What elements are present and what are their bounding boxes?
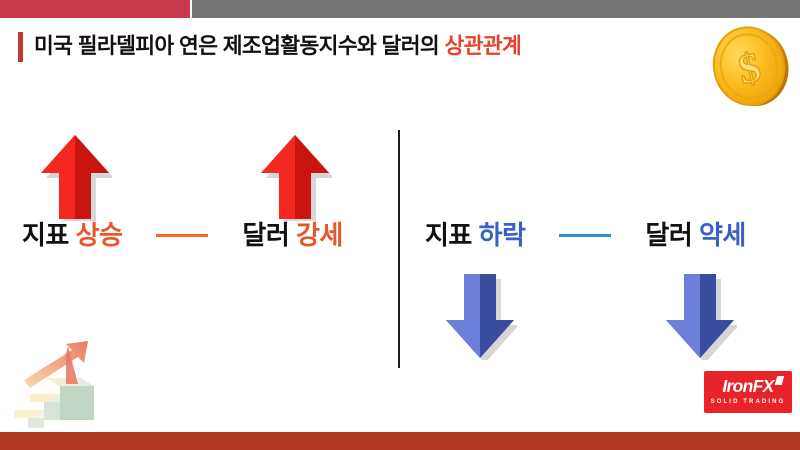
- right-cause-plain: 지표: [425, 220, 479, 250]
- top-bar-red-segment: [0, 0, 190, 18]
- slide-canvas: 미국 필라델피아 연은 제조업활동지수와 달러의 상관관계: [0, 0, 800, 450]
- page-title: 미국 필라델피아 연은 제조업활동지수와 달러의 상관관계: [18, 30, 521, 64]
- red-up-arrow-icon-cause: [38, 133, 112, 221]
- title-plain-part: 미국 필라델피아 연은 제조업활동지수와 달러의: [34, 34, 444, 58]
- right-statement-row: 지표 하락 달러 약세: [425, 213, 746, 257]
- blue-down-arrow-icon-cause: [443, 272, 517, 360]
- left-effect-label: 달러 강세: [242, 222, 342, 248]
- left-statement-row: 지표 상승 달러 강세: [22, 213, 343, 257]
- title-accent-bar: [18, 32, 23, 62]
- left-cause-label: 지표 상승: [22, 222, 122, 248]
- left-cause-highlight: 상승: [76, 220, 123, 250]
- title-highlight-part: 상관관계: [444, 34, 521, 58]
- right-panel-indicator-fall: 지표 하락 달러 약세: [400, 120, 800, 380]
- right-connector-dash: [559, 234, 611, 237]
- left-cause-plain: 지표: [22, 220, 76, 250]
- ascending-stairs-arrow-icon: [8, 336, 112, 436]
- left-effect-plain: 달러: [242, 220, 296, 250]
- top-bar-gray-segment: [192, 0, 800, 18]
- gold-dollar-coin-icon: $: [708, 24, 792, 108]
- left-effect-highlight: 강세: [296, 220, 343, 250]
- bottom-bar: [0, 432, 800, 450]
- right-effect-plain: 달러: [645, 220, 699, 250]
- ironfx-logo[interactable]: IronFX SOLID TRADING: [704, 371, 792, 413]
- blue-down-arrow-icon-effect: [663, 272, 737, 360]
- right-cause-highlight: 하락: [479, 220, 526, 250]
- red-up-arrow-icon-effect: [258, 133, 332, 221]
- title-text: 미국 필라델피아 연은 제조업활동지수와 달러의 상관관계: [34, 36, 521, 58]
- right-effect-highlight: 약세: [699, 220, 746, 250]
- left-connector-dash: [156, 234, 208, 237]
- logo-tagline-text: SOLID TRADING: [704, 399, 792, 405]
- right-effect-label: 달러 약세: [645, 222, 745, 248]
- right-cause-label: 지표 하락: [425, 222, 525, 248]
